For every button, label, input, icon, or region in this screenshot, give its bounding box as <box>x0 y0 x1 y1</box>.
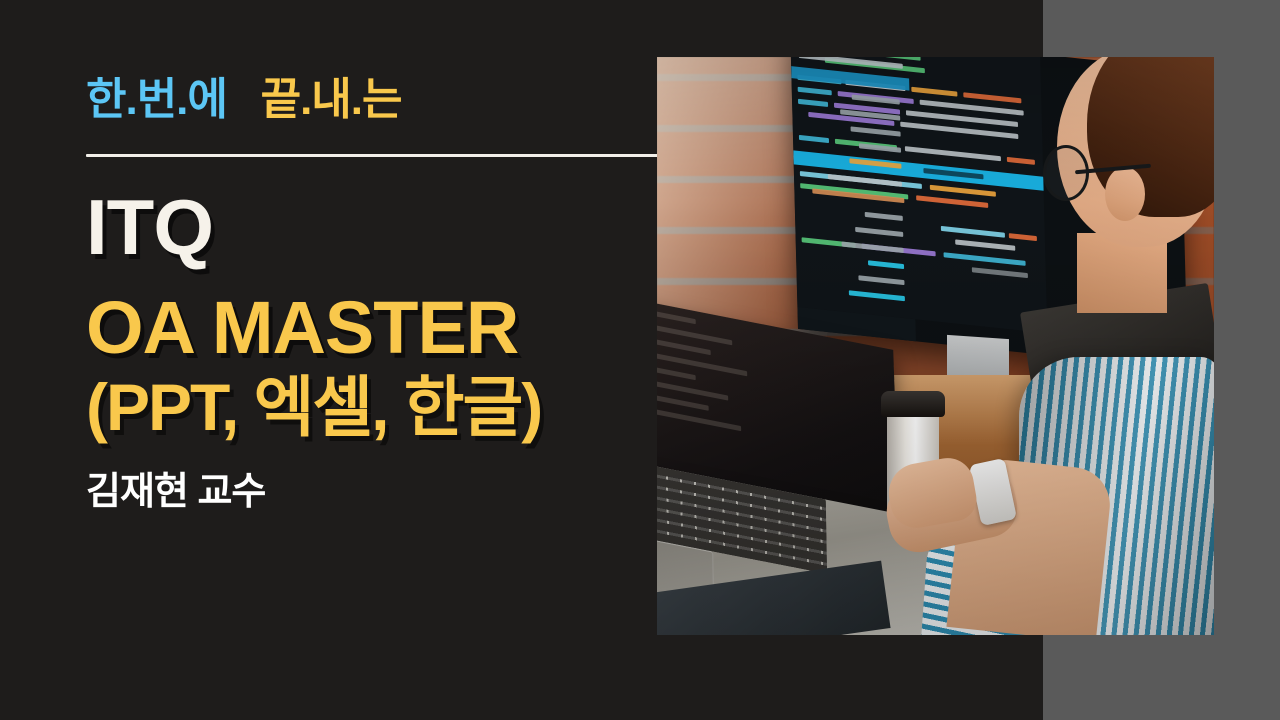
slide-canvas: 한.번.에 끝.내.는 ITQ OA MASTER (PPT, 엑셀, 한글) … <box>0 0 1280 720</box>
page-title-subjects: (PPT, 엑셀, 한글) <box>86 373 666 442</box>
kicker-gold-text: 끝.내.는 <box>261 75 402 124</box>
coffee-cup-lid <box>881 391 945 417</box>
text-content-column: 한.번.에 끝.내.는 ITQ OA MASTER (PPT, 엑셀, 한글) … <box>86 78 666 648</box>
horizontal-divider <box>86 154 658 157</box>
page-title-secondary: OA MASTER <box>86 291 666 365</box>
kicker-blue-text: 한.번.에 <box>86 75 227 124</box>
page-title-primary: ITQ <box>86 189 666 265</box>
hero-photo <box>657 57 1214 635</box>
instructor-name: 김재현 교수 <box>86 473 666 511</box>
person-ear <box>1105 167 1145 221</box>
kicker-line: 한.번.에 끝.내.는 <box>86 78 666 122</box>
